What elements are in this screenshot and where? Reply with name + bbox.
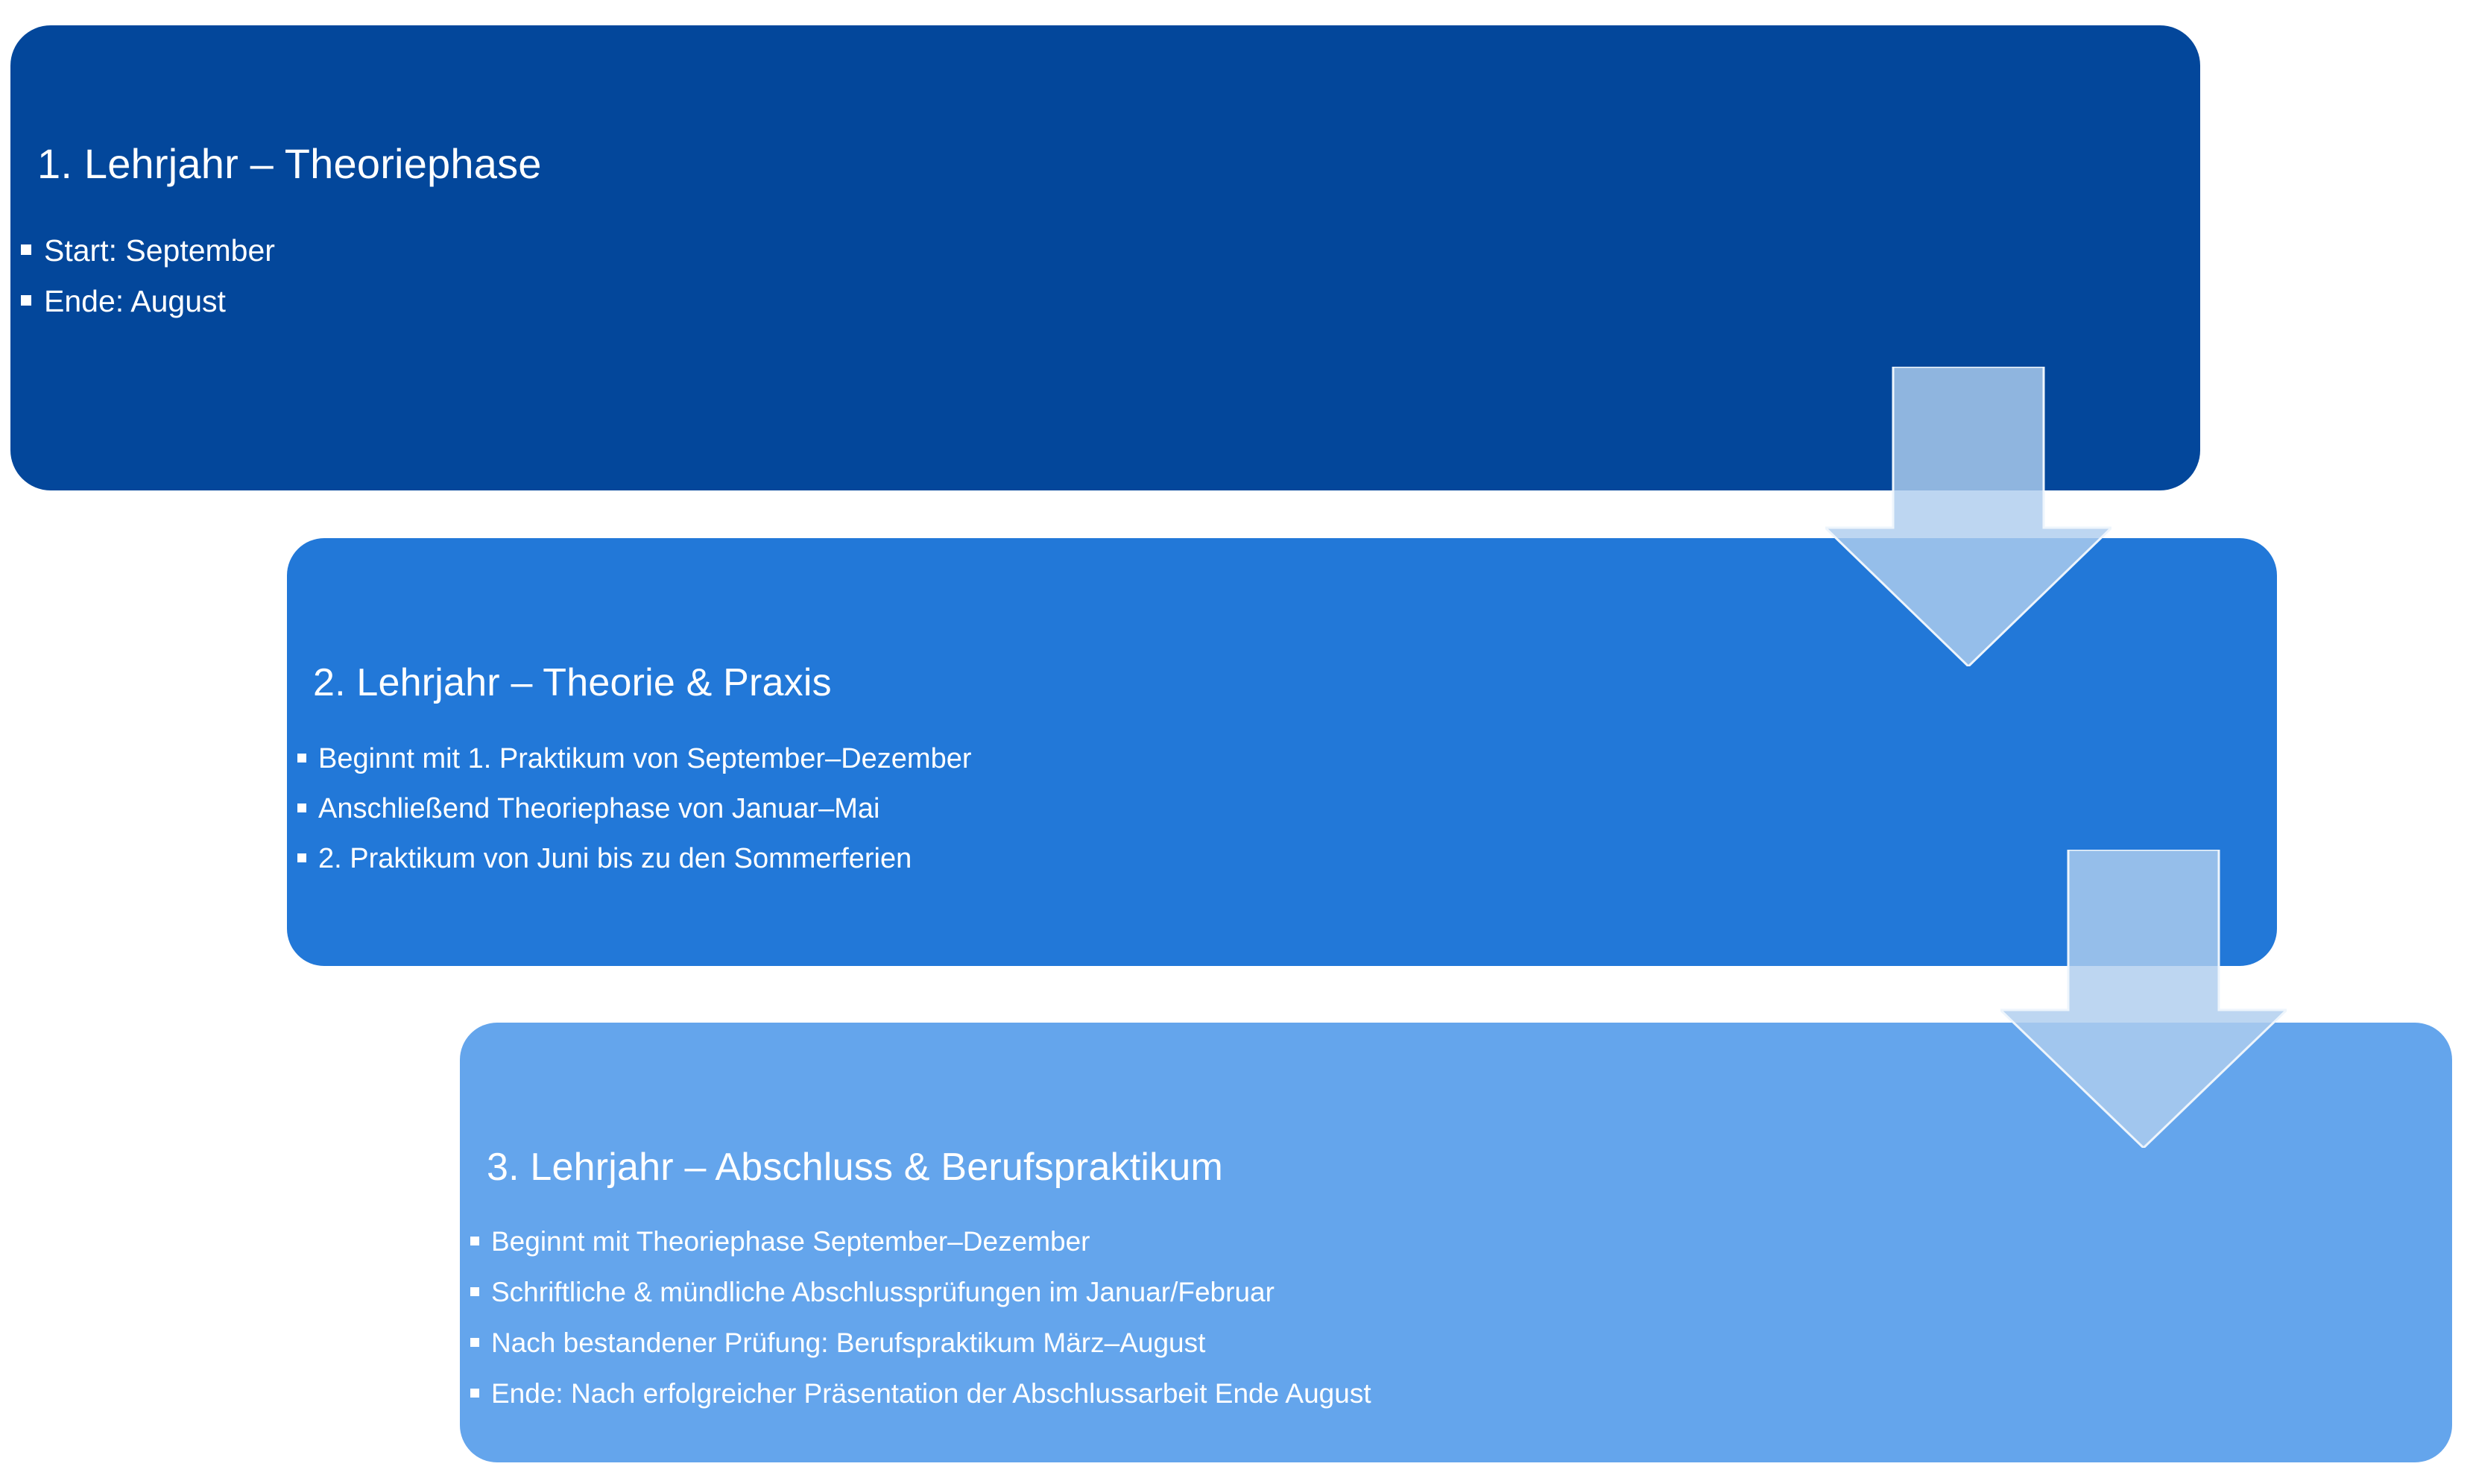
phase-bullet-list-lehrjahr-1: Start: September Ende: August [21,225,275,326]
square-bullet-icon [470,1389,479,1398]
square-bullet-icon [297,754,306,762]
phase-title-lehrjahr-3: 3. Lehrjahr – Abschluss & Berufspraktiku… [487,1148,1223,1187]
list-item: Nach bestandener Prüfung: Berufspraktiku… [470,1318,1371,1368]
list-item: Ende: Nach erfolgreicher Präsentation de… [470,1368,1371,1419]
diagram-canvas: 1. Lehrjahr – Theoriephase Start: Septem… [0,0,2470,1484]
list-item: Ende: August [21,276,275,326]
list-item: 2. Praktikum von Juni bis zu den Sommerf… [297,834,972,884]
phase-box-lehrjahr-3[interactable]: 3. Lehrjahr – Abschluss & Berufspraktiku… [460,1023,2452,1462]
phase-bullet-list-lehrjahr-2: Beginnt mit 1. Praktikum von September–D… [297,734,972,884]
bullet-text: Beginnt mit 1. Praktikum von September–D… [318,734,972,784]
square-bullet-icon [470,1287,479,1296]
phase-box-lehrjahr-1[interactable]: 1. Lehrjahr – Theoriephase Start: Septem… [10,25,2200,490]
bullet-text: Ende: August [44,276,226,326]
square-bullet-icon [21,295,31,306]
phase-title-lehrjahr-1: 1. Lehrjahr – Theoriephase [37,143,542,185]
phase-title-lehrjahr-2: 2. Lehrjahr – Theorie & Praxis [313,663,832,702]
list-item: Beginnt mit Theoriephase September–Dezem… [470,1216,1371,1267]
list-item: Start: September [21,225,275,276]
bullet-text: Schriftliche & mündliche Abschlussprüfun… [491,1267,1275,1318]
phase-bullet-list-lehrjahr-3: Beginnt mit Theoriephase September–Dezem… [470,1216,1371,1419]
bullet-text: Start: September [44,225,275,276]
square-bullet-icon [470,1338,479,1347]
phase-box-lehrjahr-2[interactable]: 2. Lehrjahr – Theorie & Praxis Beginnt m… [287,538,2277,966]
list-item: Beginnt mit 1. Praktikum von September–D… [297,734,972,784]
bullet-text: 2. Praktikum von Juni bis zu den Sommerf… [318,834,912,884]
bullet-text: Beginnt mit Theoriephase September–Dezem… [491,1216,1090,1267]
square-bullet-icon [470,1237,479,1245]
bullet-text: Nach bestandener Prüfung: Berufspraktiku… [491,1318,1205,1368]
bullet-text: Anschließend Theoriephase von Januar–Mai [318,784,879,834]
square-bullet-icon [297,803,306,812]
list-item: Anschließend Theoriephase von Januar–Mai [297,784,972,834]
bullet-text: Ende: Nach erfolgreicher Präsentation de… [491,1368,1371,1419]
square-bullet-icon [21,244,31,255]
square-bullet-icon [297,853,306,862]
list-item: Schriftliche & mündliche Abschlussprüfun… [470,1267,1371,1318]
